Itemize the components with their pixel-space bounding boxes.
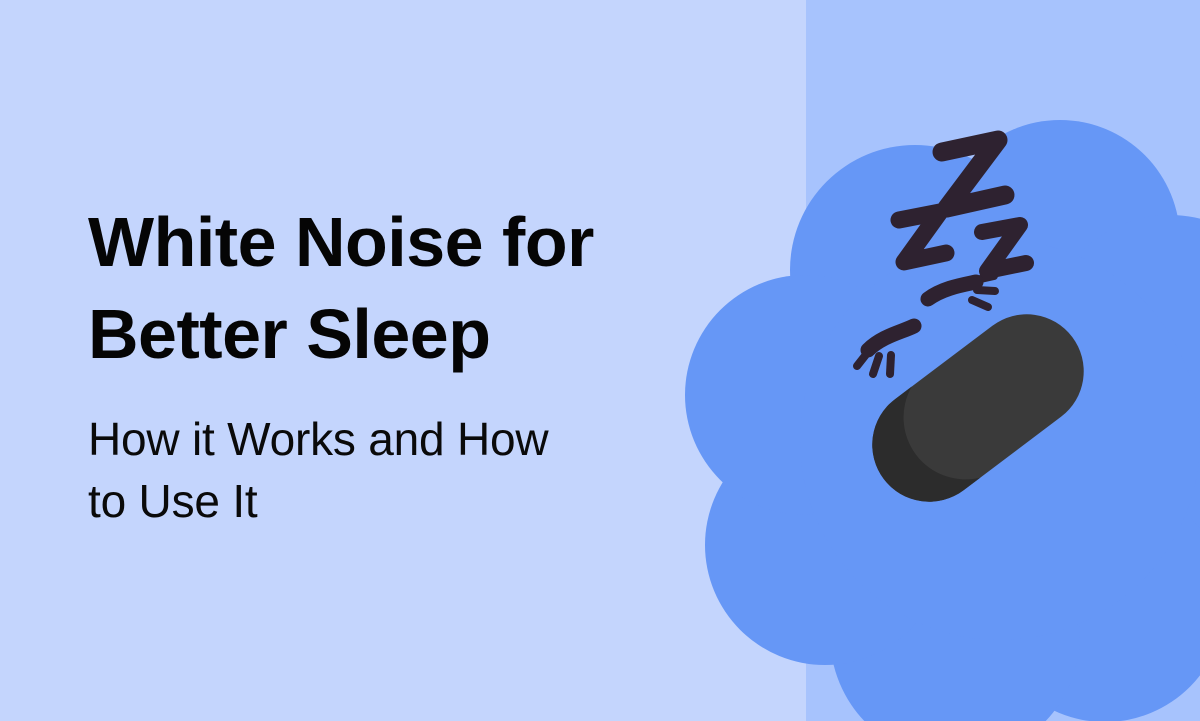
text-block: White Noise for Better Sleep How it Work…: [88, 196, 688, 532]
background-panel-right: [806, 0, 1200, 721]
page-title: White Noise for Better Sleep: [88, 196, 688, 380]
banner-card: White Noise for Better Sleep How it Work…: [0, 0, 1200, 721]
page-subtitle: How it Works and How to Use It: [88, 380, 688, 532]
